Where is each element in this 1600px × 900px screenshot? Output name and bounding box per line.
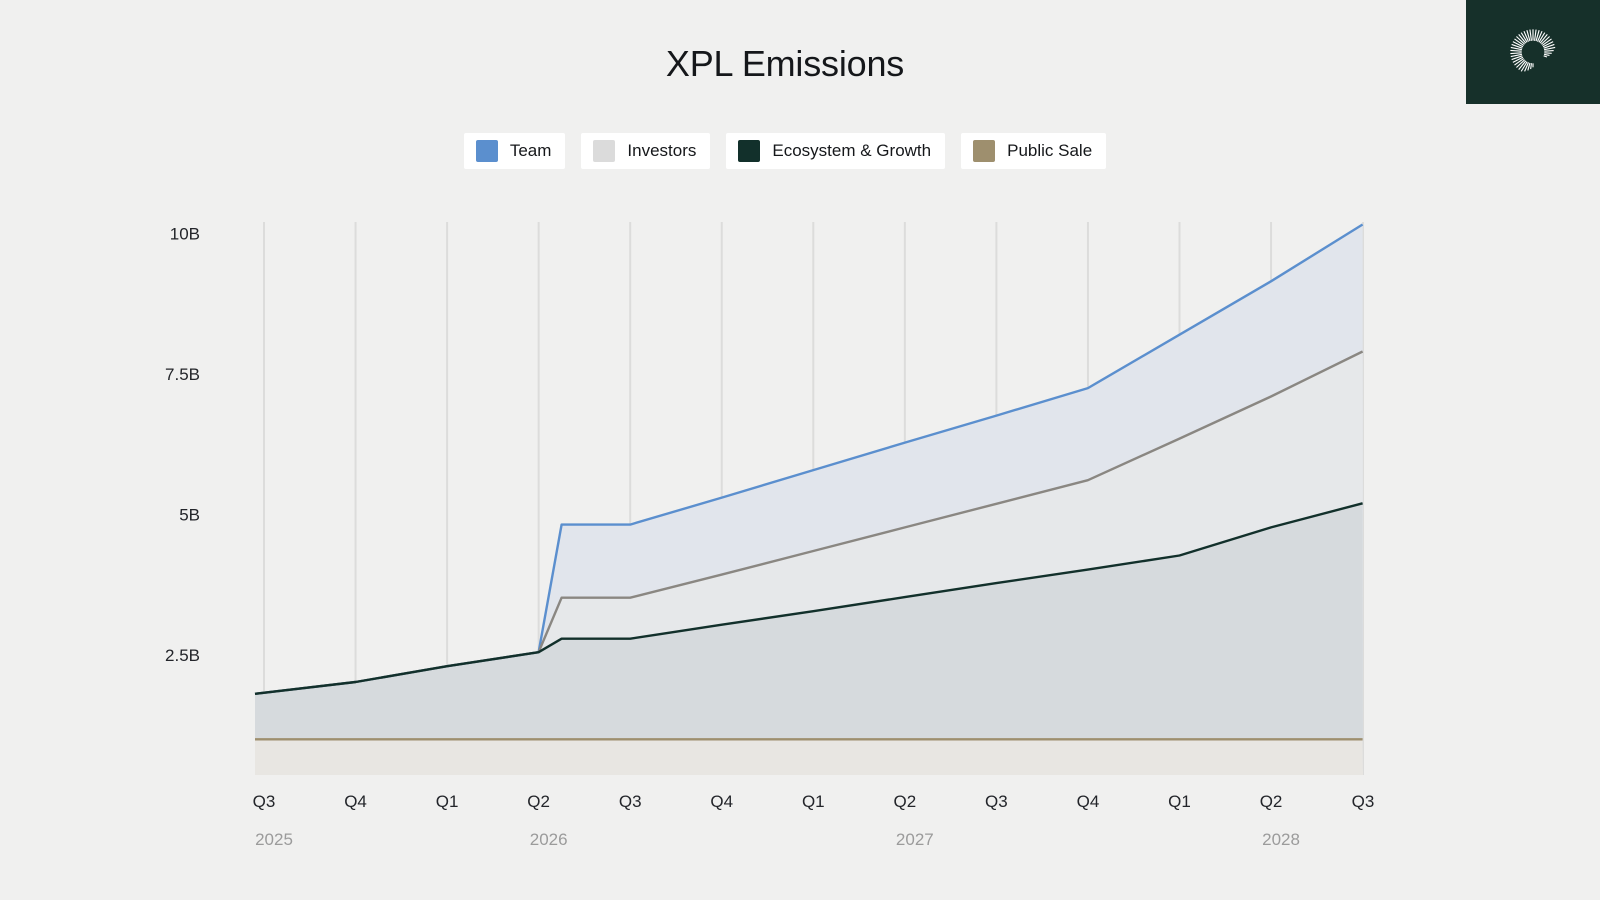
x-axis-year-label: 2027 <box>896 830 934 849</box>
y-axis-ticks: 2.5B5B7.5B10B <box>165 225 200 666</box>
x-tick-label: Q1 <box>802 792 825 811</box>
x-axis-year-label: 2026 <box>530 830 568 849</box>
x-tick-label: Q4 <box>710 792 733 811</box>
series-areas <box>255 225 1363 776</box>
y-tick-label: 10B <box>170 225 200 244</box>
x-tick-label: Q2 <box>894 792 917 811</box>
x-tick-label: Q4 <box>344 792 367 811</box>
x-tick-label: Q3 <box>985 792 1008 811</box>
x-axis-year-label: 2028 <box>1262 830 1300 849</box>
emissions-area-chart: 2.5B5B7.5B10B Q3Q4Q1Q2Q3Q4Q1Q2Q3Q4Q1Q2Q3… <box>0 0 1600 900</box>
y-tick-label: 5B <box>179 506 200 525</box>
x-axis-year-labels: 2025202620272028 <box>255 830 1300 849</box>
x-axis-year-label: 2025 <box>255 830 293 849</box>
x-tick-label: Q1 <box>436 792 459 811</box>
y-tick-label: 2.5B <box>165 646 200 665</box>
x-tick-label: Q4 <box>1077 792 1100 811</box>
x-axis-ticks: Q3Q4Q1Q2Q3Q4Q1Q2Q3Q4Q1Q2Q3 <box>253 792 1375 811</box>
x-tick-label: Q2 <box>527 792 550 811</box>
x-tick-label: Q3 <box>1352 792 1375 811</box>
y-tick-label: 7.5B <box>165 365 200 384</box>
chart-canvas: 2.5B5B7.5B10B Q3Q4Q1Q2Q3Q4Q1Q2Q3Q4Q1Q2Q3… <box>0 0 1600 900</box>
x-tick-label: Q3 <box>253 792 276 811</box>
x-tick-label: Q2 <box>1260 792 1283 811</box>
x-tick-label: Q1 <box>1168 792 1191 811</box>
x-tick-label: Q3 <box>619 792 642 811</box>
area-public-sale <box>255 739 1363 775</box>
